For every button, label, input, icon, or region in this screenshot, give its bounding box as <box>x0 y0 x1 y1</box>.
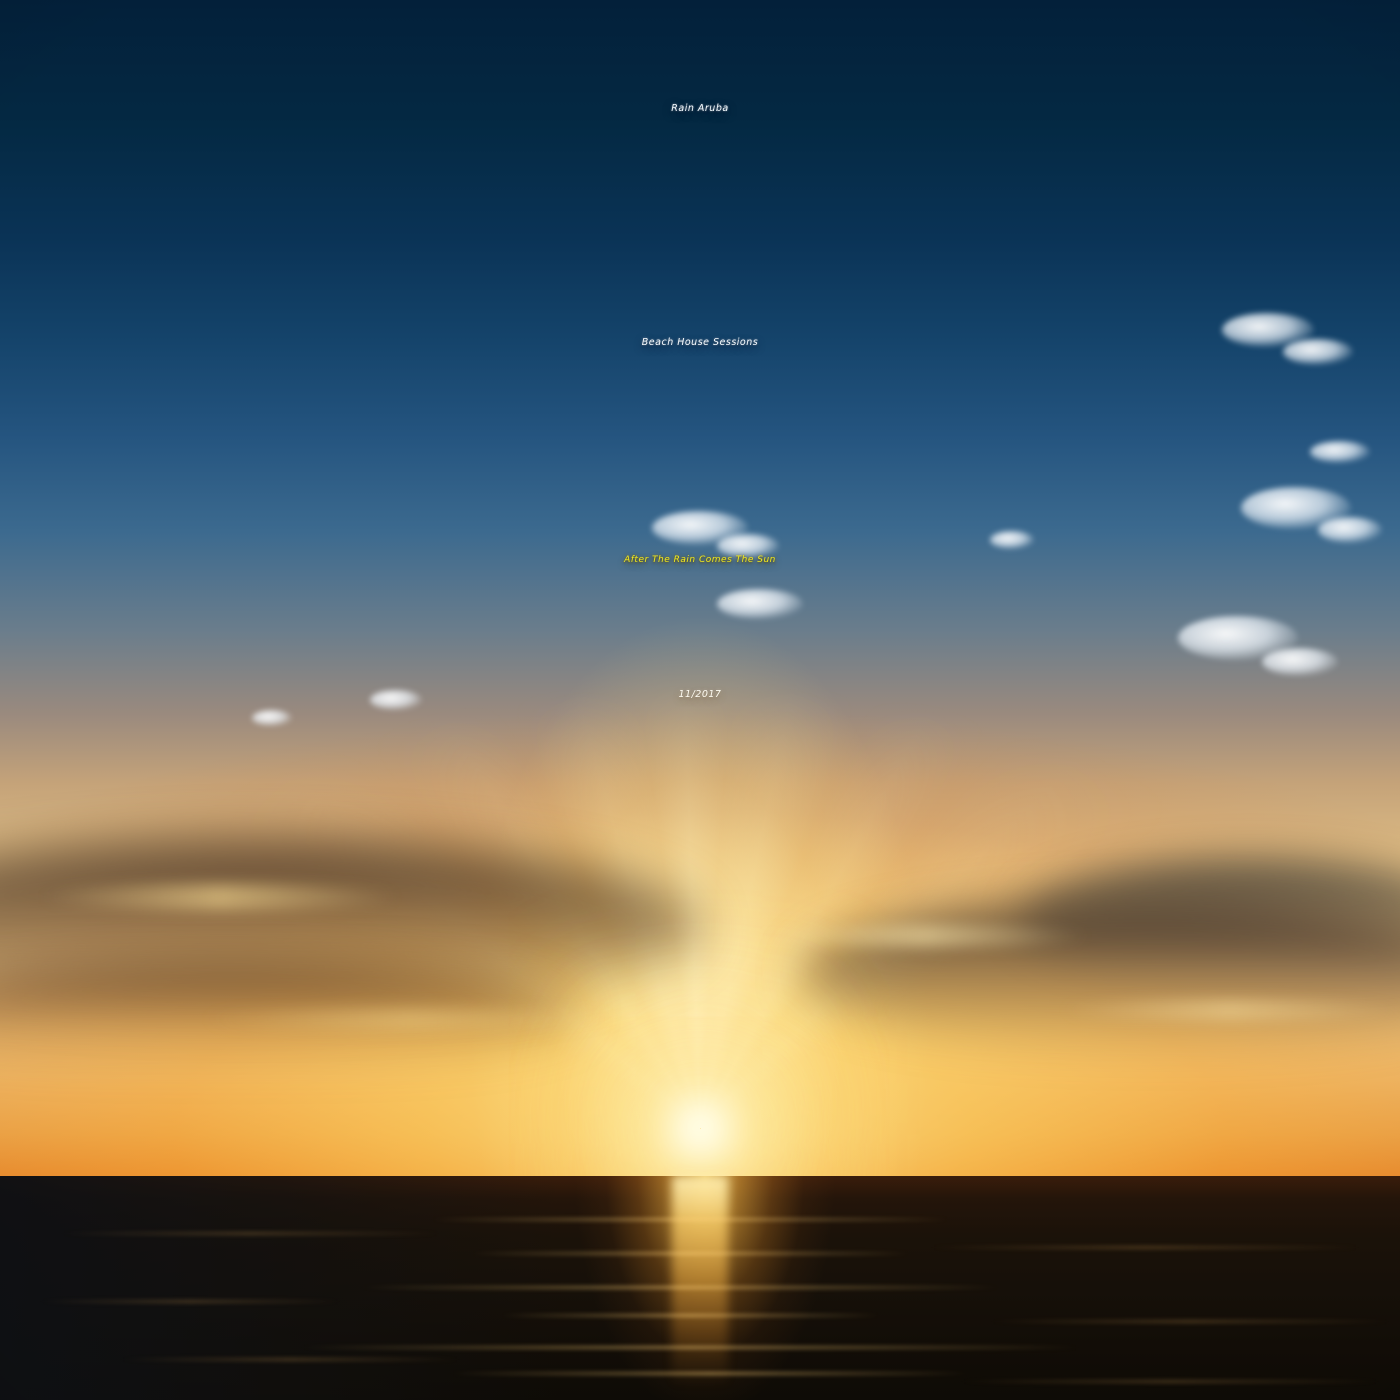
artist-name: Rain Aruba <box>0 104 1400 114</box>
album-cover-artwork: Rain Aruba Beach House Sessions After Th… <box>0 0 1400 1400</box>
cover-text-block: Rain Aruba Beach House Sessions After Th… <box>0 0 1400 1400</box>
release-date: 11/2017 <box>0 690 1400 700</box>
episode-tagline: After The Rain Comes The Sun <box>0 556 1400 565</box>
series-title: Beach House Sessions <box>0 338 1400 348</box>
